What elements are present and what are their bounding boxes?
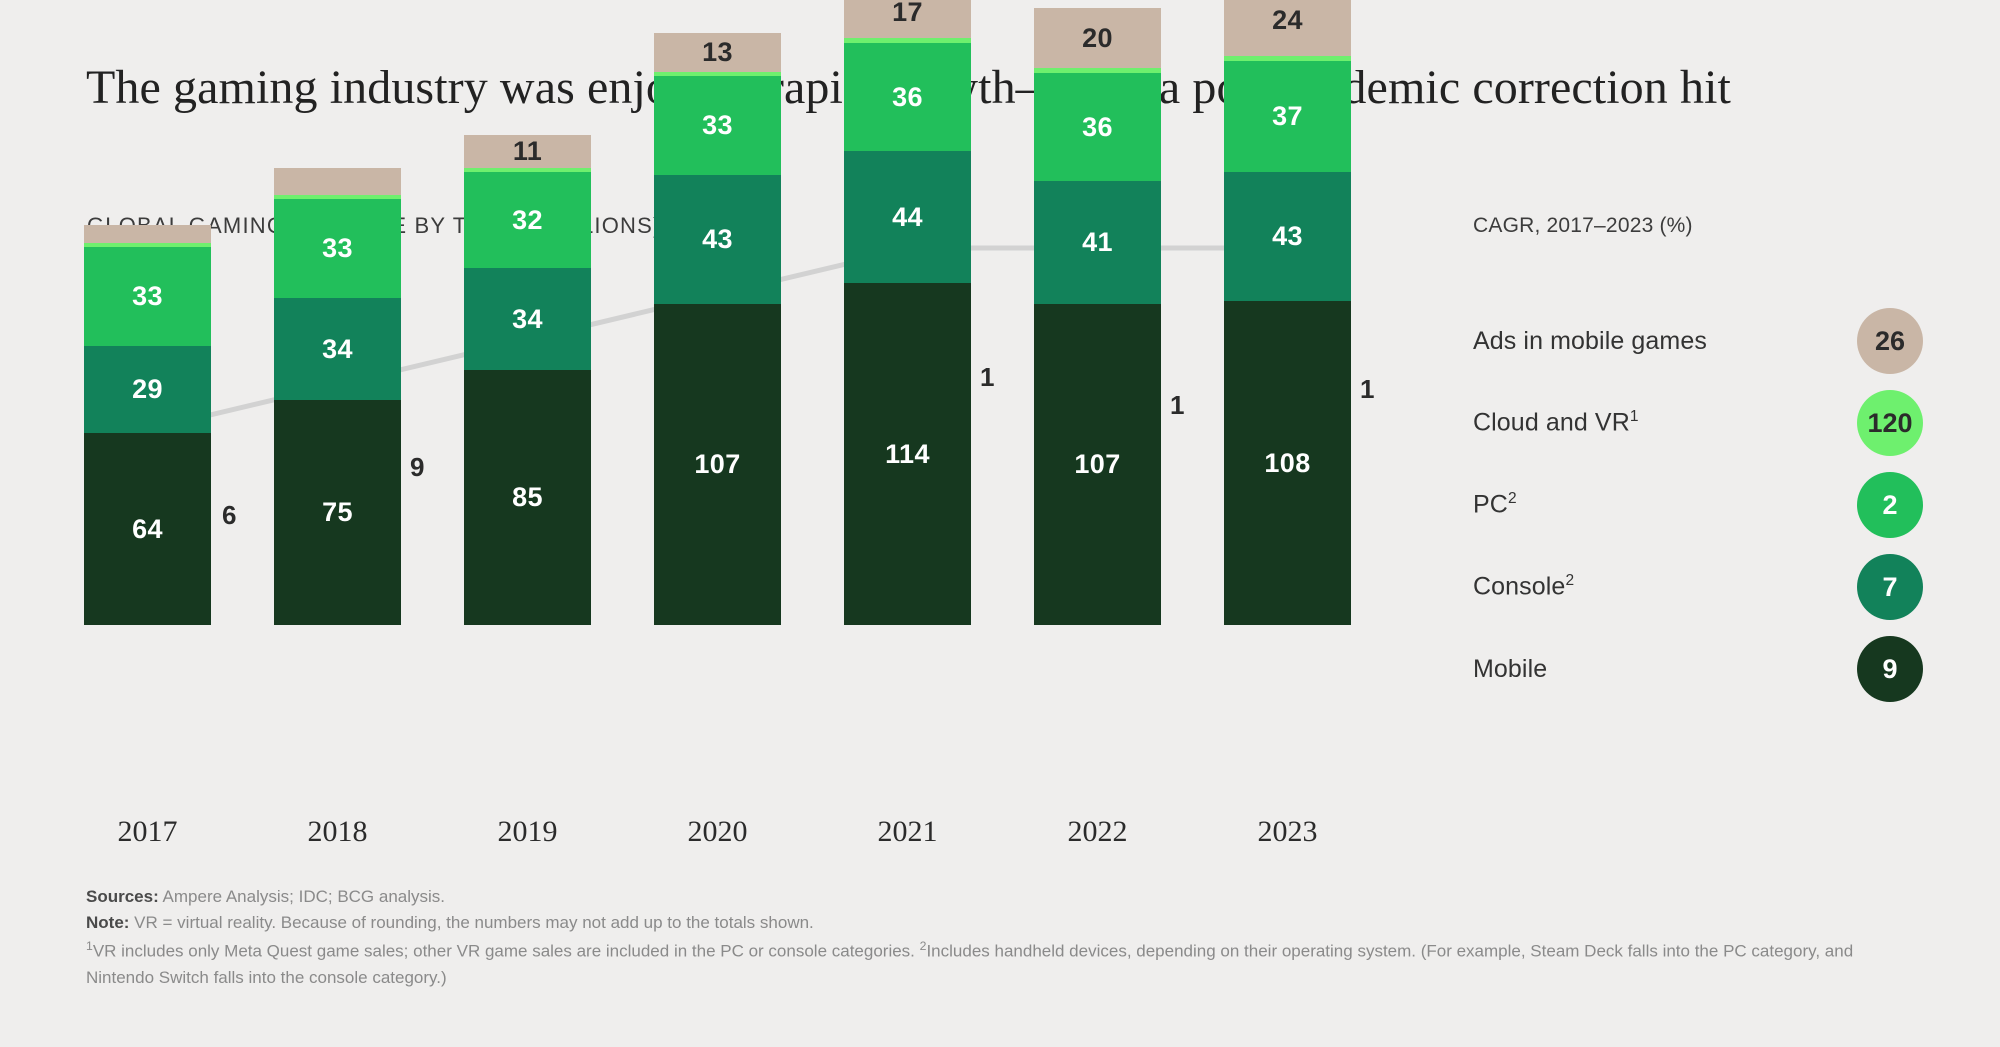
- legend-label-cloud-vr-text: Cloud and VR: [1473, 409, 1630, 437]
- legend-label-ads: Ads in mobile games: [1473, 327, 1857, 356]
- legend-item-console[interactable]: Console2 7: [1473, 546, 1923, 628]
- bar-2019[interactable]: 11 32 34 85: [464, 135, 591, 625]
- segment-ads-2019[interactable]: 11: [464, 135, 591, 168]
- segment-console-2021[interactable]: 44: [844, 151, 971, 283]
- segment-ads-2022[interactable]: 20: [1034, 8, 1161, 68]
- segment-pc-2022[interactable]: 36: [1034, 73, 1161, 181]
- legend-label-mobile-text: Mobile: [1473, 655, 1547, 683]
- footnote-sources-text: Ampere Analysis; IDC; BCG analysis.: [159, 887, 445, 906]
- legend-value-mobile: 9: [1857, 636, 1923, 702]
- segment-mobile-2018[interactable]: 75: [274, 400, 401, 625]
- legend-item-pc[interactable]: PC2 2: [1473, 464, 1923, 546]
- segment-mobile-2023[interactable]: 108: [1224, 301, 1351, 625]
- bar-2018[interactable]: 33 34 75: [274, 168, 401, 625]
- bar-side-label-cloud-2022: 1: [1170, 390, 1184, 421]
- footnote-numbered: 1VR includes only Meta Quest game sales;…: [86, 937, 1916, 991]
- bar-2022[interactable]: 20 36 41 107: [1034, 8, 1161, 625]
- bar-2020[interactable]: 13 33 43 107: [654, 33, 781, 625]
- bar-2023[interactable]: 24 37 43 108: [1224, 0, 1351, 625]
- x-axis-label-2022: 2022: [1034, 815, 1161, 849]
- footnote-note-lead: Note:: [86, 913, 129, 932]
- footnote-1-text: VR includes only Meta Quest game sales; …: [93, 941, 920, 960]
- segment-ads-2018[interactable]: [274, 168, 401, 195]
- legend-value-console: 7: [1857, 554, 1923, 620]
- segment-mobile-2022[interactable]: 107: [1034, 304, 1161, 625]
- segment-ads-2020[interactable]: 13: [654, 33, 781, 72]
- x-axis-label-2020: 2020: [654, 815, 781, 849]
- x-axis-label-2018: 2018: [274, 815, 401, 849]
- legend-label-pc: PC2: [1473, 490, 1857, 519]
- x-axis-label-2021: 2021: [844, 815, 971, 849]
- segment-console-2017[interactable]: 29: [84, 346, 211, 433]
- segment-pc-2023[interactable]: 37: [1224, 61, 1351, 172]
- bar-2017[interactable]: 33 29 64: [84, 225, 211, 625]
- legend-label-ads-text: Ads in mobile games: [1473, 327, 1707, 355]
- segment-ads-2021[interactable]: 17: [844, 0, 971, 38]
- legend-label-console-text: Console: [1473, 573, 1565, 601]
- bar-side-label-cloud-2021: 1: [980, 362, 994, 393]
- legend-footnote-marker-2-console: 2: [1565, 572, 1574, 589]
- bar-side-label-ads-2018: 9: [410, 452, 424, 483]
- segment-pc-2018[interactable]: 33: [274, 199, 401, 298]
- legend-item-mobile[interactable]: Mobile 9: [1473, 628, 1923, 710]
- footnote-note-text: VR = virtual reality. Because of roundin…: [129, 913, 813, 932]
- legend-footnote-marker-2-pc: 2: [1508, 490, 1517, 507]
- legend-value-cloud-vr: 120: [1857, 390, 1923, 456]
- x-axis-label-2019: 2019: [464, 815, 591, 849]
- legend-value-ads: 26: [1857, 308, 1923, 374]
- segment-console-2018[interactable]: 34: [274, 298, 401, 400]
- footnote-sources: Sources: Ampere Analysis; IDC; BCG analy…: [86, 884, 1916, 910]
- footnote-note: Note: VR = virtual reality. Because of r…: [86, 910, 1916, 936]
- bar-side-label-cloud-2023: 1: [1360, 374, 1374, 405]
- segment-pc-2021[interactable]: 36: [844, 43, 971, 151]
- footnote-sources-lead: Sources:: [86, 887, 159, 906]
- footnote-marker-1: 1: [86, 939, 93, 953]
- segment-console-2022[interactable]: 41: [1034, 181, 1161, 304]
- segment-mobile-2017[interactable]: 64: [84, 433, 211, 625]
- segment-pc-2020[interactable]: 33: [654, 76, 781, 175]
- legend-item-ads[interactable]: Ads in mobile games 26: [1473, 300, 1923, 382]
- legend-label-console: Console2: [1473, 572, 1857, 601]
- legend-value-pc: 2: [1857, 472, 1923, 538]
- segment-ads-2017[interactable]: [84, 225, 211, 243]
- legend-label-pc-text: PC: [1473, 491, 1508, 519]
- stacked-bar-chart: +13% +1% 131 33 29 64 6 2017 150 33 34 7…: [0, 0, 1400, 860]
- legend-item-cloud-vr[interactable]: Cloud and VR1 120: [1473, 382, 1923, 464]
- segment-mobile-2019[interactable]: 85: [464, 370, 591, 625]
- legend-footnote-marker-1: 1: [1630, 408, 1639, 425]
- segment-ads-2023[interactable]: 24: [1224, 0, 1351, 56]
- segment-console-2023[interactable]: 43: [1224, 172, 1351, 301]
- segment-mobile-2020[interactable]: 107: [654, 304, 781, 625]
- cagr-column-header: CAGR, 2017–2023 (%): [1473, 214, 1693, 238]
- bar-side-label-ads-2017: 6: [222, 500, 236, 531]
- x-axis-label-2023: 2023: [1224, 815, 1351, 849]
- legend-label-cloud-vr: Cloud and VR1: [1473, 408, 1857, 437]
- x-axis-label-2017: 2017: [84, 815, 211, 849]
- segment-pc-2017[interactable]: 33: [84, 247, 211, 346]
- segment-console-2020[interactable]: 43: [654, 175, 781, 304]
- footnotes: Sources: Ampere Analysis; IDC; BCG analy…: [86, 884, 1916, 991]
- segment-console-2019[interactable]: 34: [464, 268, 591, 370]
- segment-pc-2019[interactable]: 32: [464, 172, 591, 268]
- segment-mobile-2021[interactable]: 114: [844, 283, 971, 625]
- legend-label-mobile: Mobile: [1473, 655, 1857, 684]
- bar-2021[interactable]: 17 36 44 114: [844, 0, 971, 625]
